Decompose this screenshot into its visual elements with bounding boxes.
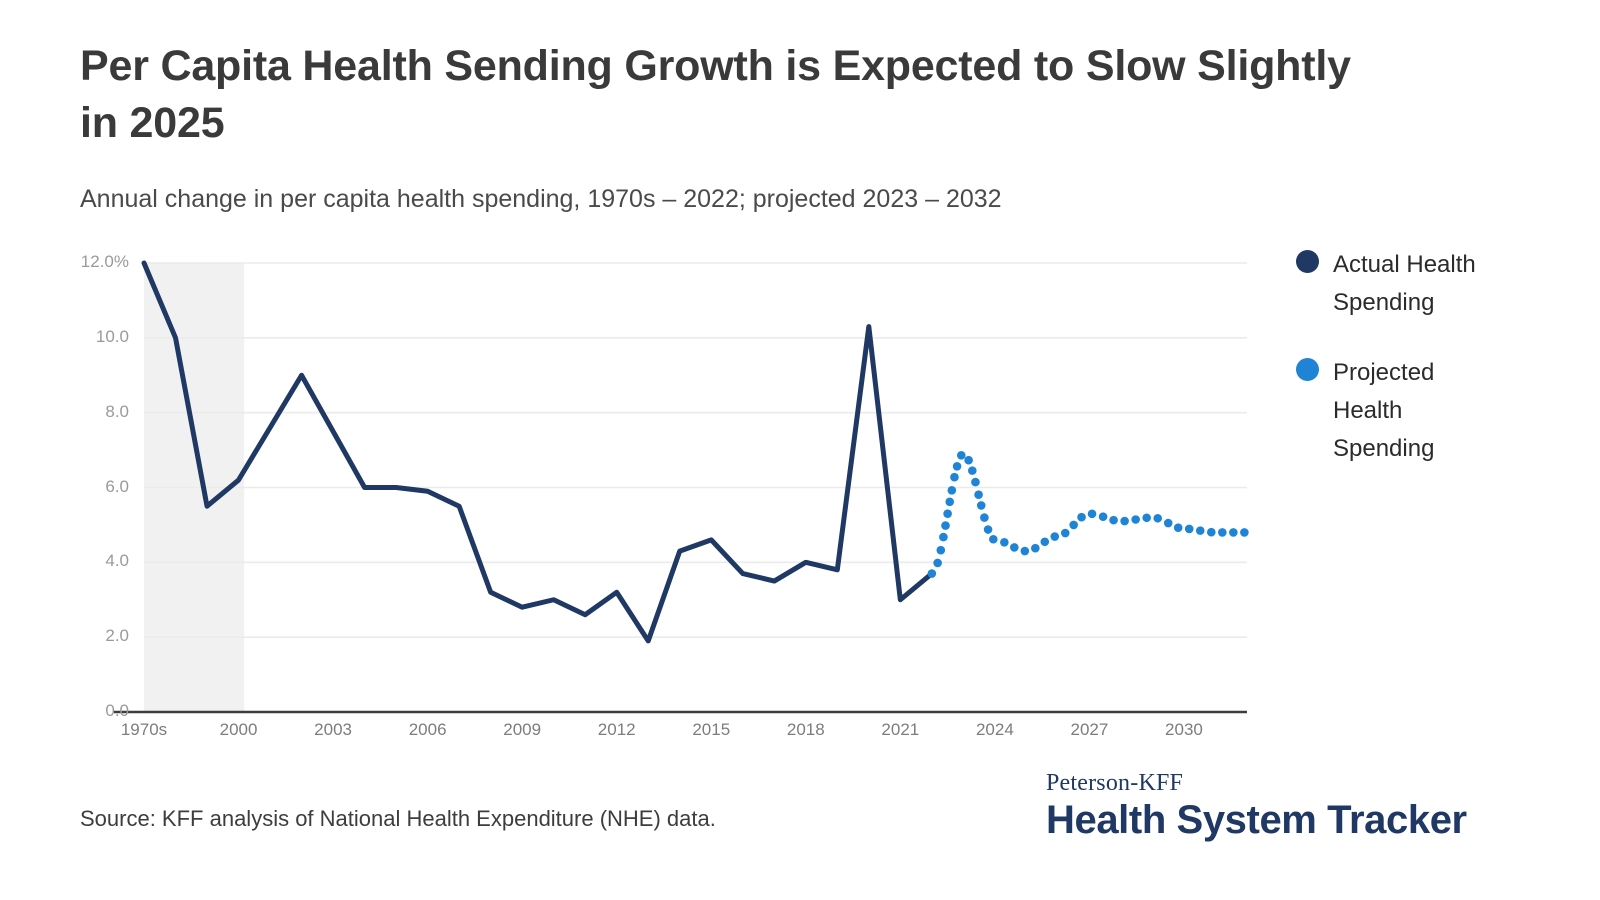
x-axis-tick-2012: 2012	[572, 720, 662, 740]
chart-plot-area: 0.02.04.06.08.010.012.0%1970s20002003200…	[0, 0, 1290, 760]
chart-figure: Per Capita Health Sending Growth is Expe…	[0, 0, 1600, 900]
x-axis-tick-2018: 2018	[761, 720, 851, 740]
x-axis-tick-2009: 2009	[477, 720, 567, 740]
legend-label-actual: Actual Health Spending	[1333, 246, 1478, 322]
legend-label-projected: Projected Health Spending	[1333, 354, 1478, 468]
y-axis-tick-0: 0.0	[49, 701, 129, 721]
x-axis-tick-2015: 2015	[666, 720, 756, 740]
x-axis-tick-2006: 2006	[383, 720, 473, 740]
legend-dot-actual-icon	[1296, 250, 1319, 273]
y-axis-tick-4: 4.0	[49, 551, 129, 571]
x-axis-tick-2000: 2000	[194, 720, 284, 740]
y-axis-tick-12: 12.0%	[49, 252, 129, 272]
chart-svg	[0, 0, 1290, 760]
brand-logo: Peterson-KFF Health System Tracker	[1046, 770, 1506, 843]
x-axis-tick-1970s: 1970s	[99, 720, 189, 740]
logo-peterson-kff: Peterson-KFF	[1046, 770, 1506, 796]
source-note: Source: KFF analysis of National Health …	[80, 806, 716, 832]
y-axis-tick-6: 6.0	[49, 477, 129, 497]
x-axis-tick-2021: 2021	[855, 720, 945, 740]
x-axis-tick-2027: 2027	[1044, 720, 1134, 740]
series-line-projected[interactable]	[928, 451, 1249, 578]
series-line-actual[interactable]	[144, 263, 932, 641]
y-axis-tick-8: 8.0	[49, 402, 129, 422]
chart-legend: Actual Health Spending Projected Health …	[1296, 246, 1596, 500]
x-axis-tick-2003: 2003	[288, 720, 378, 740]
x-axis-tick-2030: 2030	[1139, 720, 1229, 740]
legend-item-actual[interactable]: Actual Health Spending	[1296, 246, 1596, 322]
x-axis-tick-2024: 2024	[950, 720, 1040, 740]
y-axis-tick-2: 2.0	[49, 626, 129, 646]
y-axis-tick-10: 10.0	[49, 327, 129, 347]
logo-health-system-tracker: Health System Tracker	[1046, 798, 1506, 843]
legend-dot-projected-icon	[1296, 358, 1319, 381]
legend-item-projected[interactable]: Projected Health Spending	[1296, 354, 1596, 468]
